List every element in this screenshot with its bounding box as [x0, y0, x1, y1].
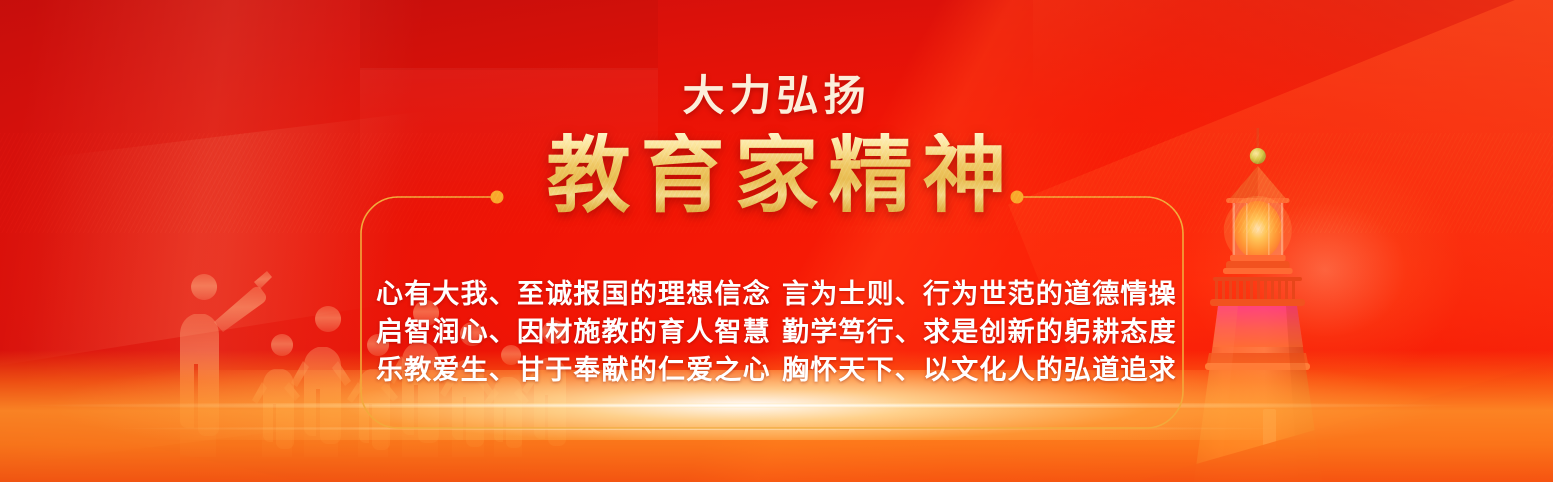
horizon-highlight-line: [0, 403, 1553, 408]
motto-cell-right: 勤学笃行、求是创新的躬耕态度: [782, 310, 1168, 349]
motto-cell-left: 乐教爱生、甘于奉献的仁爱之心: [376, 348, 762, 387]
motto-cell-left: 启智润心、因材施教的育人智慧: [376, 310, 762, 349]
motto-block: 心有大我、至诚报国的理想信念 言为士则、行为世范的道德情操 启智润心、因材施教的…: [376, 272, 1168, 386]
motto-cell-right: 胸怀天下、以文化人的弘道追求: [782, 348, 1168, 387]
horizon-highlight-line-lower: [0, 427, 1553, 430]
education-spirit-banner: 大力弘扬 教育家精神 心有大我、至诚报国的理想信念 言为士则、行为世范的道德情操…: [0, 0, 1553, 482]
motto-cell-right: 言为士则、行为世范的道德情操: [782, 272, 1168, 311]
kicker-text: 大力弘扬: [0, 62, 1553, 123]
headline-text: 教育家精神: [0, 133, 1553, 217]
motto-row: 乐教爱生、甘于奉献的仁爱之心 胸怀天下、以文化人的弘道追求: [376, 348, 1168, 386]
motto-cell-left: 心有大我、至诚报国的理想信念: [376, 272, 762, 311]
motto-row: 心有大我、至诚报国的理想信念 言为士则、行为世范的道德情操: [376, 272, 1168, 310]
motto-row: 启智润心、因材施教的育人智慧 勤学笃行、求是创新的躬耕态度: [376, 310, 1168, 348]
